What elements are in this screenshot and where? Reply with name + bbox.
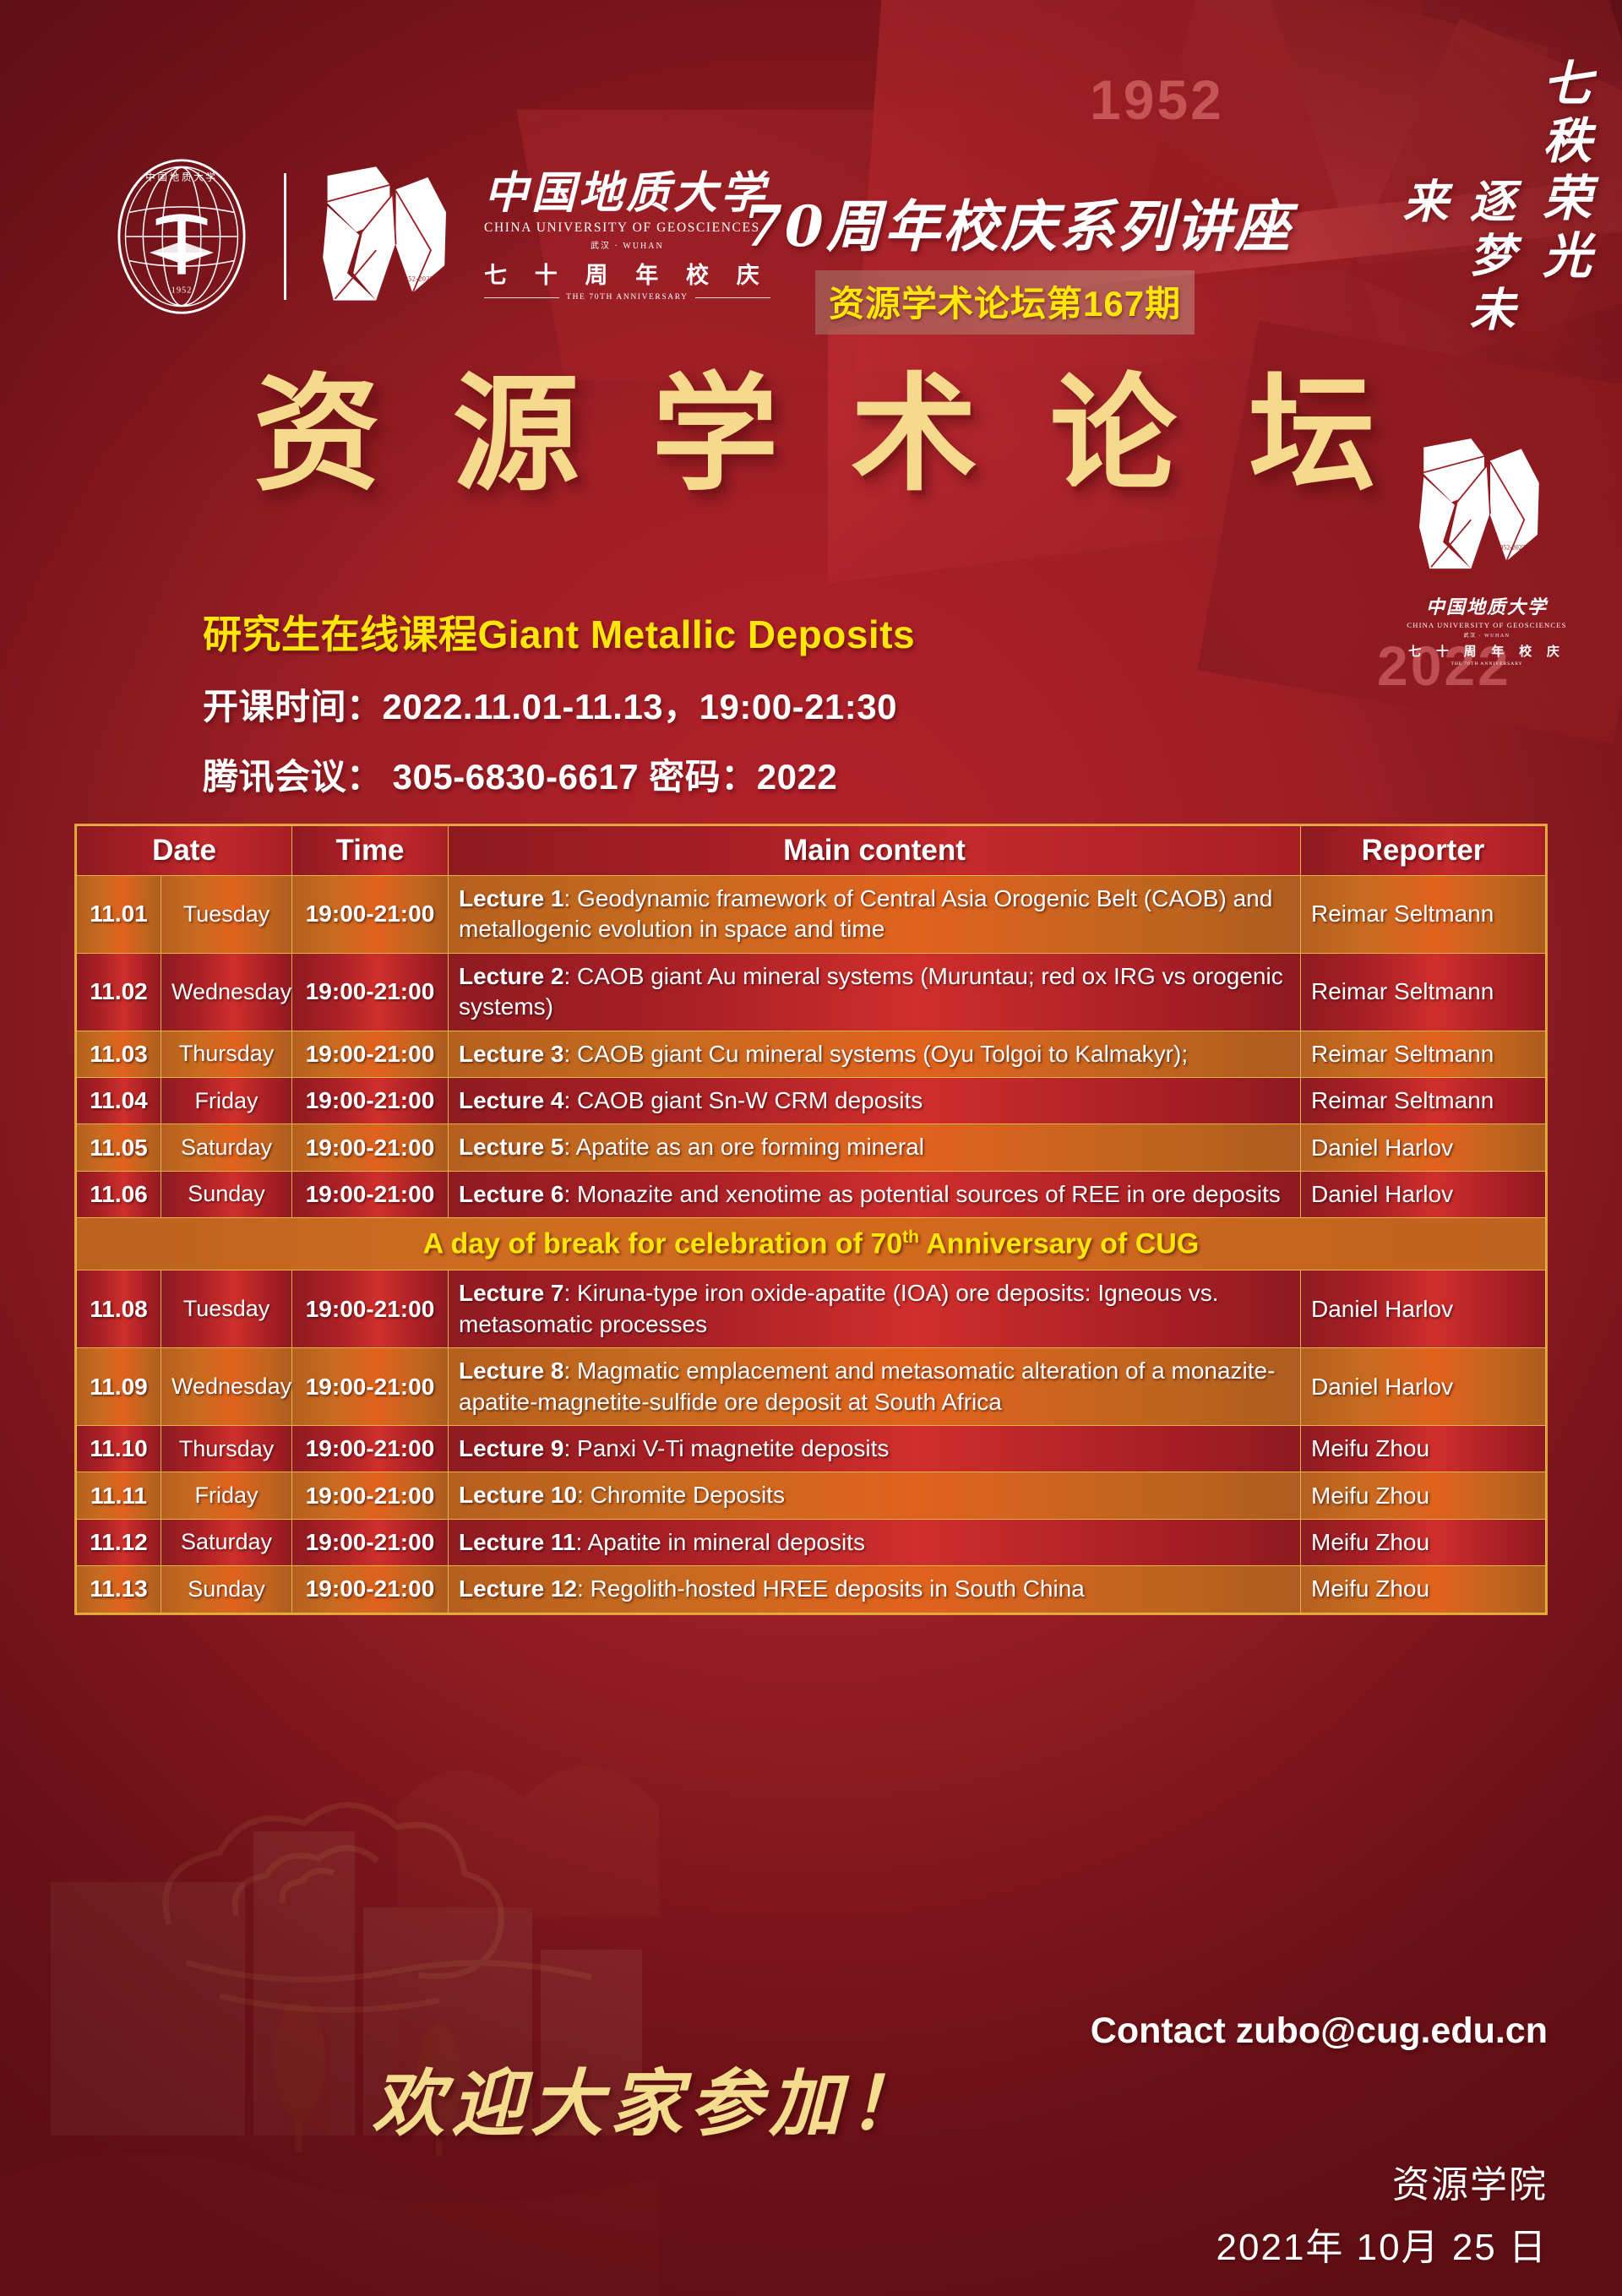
meeting-info: 腾讯会议： 305-6830-6617 密码：2022 — [203, 748, 915, 800]
anniversary-emblem-right: 1952-2022 中国地质大学 CHINA UNIVERSITY OF GEO… — [1390, 431, 1584, 666]
cell-day: Thursday — [161, 1426, 292, 1472]
anniversary-70-emblem-small-icon: 1952-2022 — [1413, 431, 1561, 583]
rule-right — [695, 297, 770, 298]
svg-text:中国地质大学: 中国地质大学 — [145, 171, 217, 183]
schedule-table-container: Date Time Main content Reporter 11.01Tue… — [74, 824, 1548, 1615]
emblem-name-cn: 中国地质大学 — [1390, 592, 1584, 619]
lecture-label: Lecture 9 — [459, 1435, 564, 1461]
cug-city: 武汉 · WUHAN — [484, 238, 770, 251]
emblem-anniversary-en: THE 70TH ANNIVERSARY — [1390, 661, 1584, 666]
cug-anniversary-en-row: THE 70TH ANNIVERSARY — [484, 293, 770, 302]
issue-badge: 资源学术论坛第167期 — [815, 270, 1195, 335]
cell-reporter: Daniel Harlov — [1301, 1171, 1546, 1217]
cell-day: Sunday — [161, 1566, 292, 1613]
ordinal-suffix: th — [902, 1227, 919, 1247]
cell-date: 11.05 — [77, 1124, 161, 1171]
cell-reporter: Reimar Seltmann — [1301, 953, 1546, 1031]
lecture-label: Lecture 5 — [459, 1134, 564, 1160]
lecture-label: Lecture 3 — [459, 1041, 564, 1067]
cell-main-content: Lecture 3: CAOB giant Cu mineral systems… — [449, 1031, 1301, 1077]
cell-time: 19:00-21:00 — [292, 1171, 449, 1217]
organizer-block: 资源学院 2021年 10月 25 日 — [1216, 2154, 1548, 2271]
cell-main-content: Lecture 6: Monazite and xenotime as pote… — [449, 1171, 1301, 1217]
cell-time: 19:00-21:00 — [292, 1031, 449, 1077]
table-row: 11.08Tuesday19:00-21:00Lecture 7: Kiruna… — [77, 1270, 1546, 1348]
cell-reporter: Meifu Zhou — [1301, 1472, 1546, 1519]
lecture-label: Lecture 10 — [459, 1482, 577, 1508]
table-row: 11.02Wednesday19:00-21:00Lecture 2: CAOB… — [77, 953, 1546, 1031]
cug-anniversary-en: THE 70TH ANNIVERSARY — [566, 293, 688, 302]
poster-header: 1952 2022 七秩荣光 逐梦未来 1952 中国地质大学 — [0, 0, 1622, 355]
organizer-date: 2021年 10月 25 日 — [1216, 2217, 1548, 2271]
cug-anniversary-cn: 七 十 周 年 校 庆 — [484, 257, 770, 290]
column-header-reporter: Reporter — [1301, 826, 1546, 876]
cell-reporter: Reimar Seltmann — [1301, 1031, 1546, 1077]
table-row: 11.05Saturday19:00-21:00Lecture 5: Apati… — [77, 1124, 1546, 1171]
table-row: 11.13Sunday19:00-21:00Lecture 12: Regoli… — [77, 1566, 1546, 1613]
table-row: 11.12Saturday19:00-21:00Lecture 11: Apat… — [77, 1519, 1546, 1565]
cell-date: 11.11 — [77, 1472, 161, 1519]
schedule-table-body: 11.01Tuesday19:00-21:00Lecture 1: Geodyn… — [77, 876, 1546, 1613]
lecture-label: Lecture 11 — [459, 1529, 576, 1555]
table-row: 11.04Friday19:00-21:00Lecture 4: CAOB gi… — [77, 1077, 1546, 1124]
cug-wordmark: 中国地质大学 CHINA UNIVERSITY OF GEOSCIENCES 武… — [484, 171, 770, 302]
cell-main-content: Lecture 11: Apatite in mineral deposits — [449, 1519, 1301, 1565]
cell-main-content: Lecture 8: Magmatic emplacement and meta… — [449, 1348, 1301, 1426]
cell-main-content: Lecture 10: Chromite Deposits — [449, 1472, 1301, 1519]
table-row: 11.03Thursday19:00-21:00Lecture 3: CAOB … — [77, 1031, 1546, 1077]
contact-info[interactable]: Contact zubo@cug.edu.cn — [1091, 2010, 1548, 2052]
emblem-name-en: CHINA UNIVERSITY OF GEOSCIENCES — [1390, 621, 1584, 629]
cell-day: Friday — [161, 1077, 292, 1124]
cell-day: Tuesday — [161, 1270, 292, 1348]
cell-date: 11.13 — [77, 1566, 161, 1613]
lecture-label: Lecture 7 — [459, 1280, 564, 1306]
cell-day: Saturday — [161, 1124, 292, 1171]
cell-reporter: Meifu Zhou — [1301, 1519, 1546, 1565]
cell-date: 11.01 — [77, 876, 161, 954]
cell-main-content: Lecture 4: CAOB giant Sn-W CRM deposits — [449, 1077, 1301, 1124]
cell-main-content: Lecture 7: Kiruna-type iron oxide-apatit… — [449, 1270, 1301, 1348]
cell-date: 11.09 — [77, 1348, 161, 1426]
cell-date: 11.06 — [77, 1171, 161, 1217]
series-title: 70周年校庆系列讲座 — [743, 182, 1293, 263]
cell-date: 11.03 — [77, 1031, 161, 1077]
cell-day: Wednesday — [161, 1348, 292, 1426]
cell-time: 19:00-21:00 — [292, 1270, 449, 1348]
svg-text:1952-2022: 1952-2022 — [1496, 543, 1525, 551]
organizer-name: 资源学院 — [1216, 2154, 1548, 2208]
cell-reporter: Daniel Harlov — [1301, 1348, 1546, 1426]
table-header-row: Date Time Main content Reporter — [77, 826, 1546, 876]
lecture-label: Lecture 12 — [459, 1575, 577, 1602]
cell-time: 19:00-21:00 — [292, 1077, 449, 1124]
cug-name-cn: 中国地质大学 — [484, 171, 770, 218]
lecture-label: Lecture 1 — [459, 885, 564, 911]
cell-day: Thursday — [161, 1031, 292, 1077]
calligraphy-zhumeng-weilai: 逐梦未来 — [1389, 177, 1522, 355]
lecture-label: Lecture 2 — [459, 963, 564, 989]
column-header-time: Time — [292, 826, 449, 876]
table-row: 11.09Wednesday19:00-21:00Lecture 8: Magm… — [77, 1348, 1546, 1426]
emblem-city: 武汉 · WUHAN — [1390, 631, 1584, 639]
cell-date: 11.08 — [77, 1270, 161, 1348]
logo-divider — [284, 173, 286, 300]
table-row: 11.01Tuesday19:00-21:00Lecture 1: Geodyn… — [77, 876, 1546, 954]
cell-day: Sunday — [161, 1171, 292, 1217]
cell-date: 11.10 — [77, 1426, 161, 1472]
calligraphy-qizhi-rongguang: 七秩荣光 — [1527, 57, 1598, 287]
cell-time: 19:00-21:00 — [292, 1519, 449, 1565]
cell-time: 19:00-21:00 — [292, 1124, 449, 1171]
svg-text:1952: 1952 — [171, 286, 193, 296]
schedule-table: Date Time Main content Reporter 11.01Tue… — [76, 825, 1546, 1613]
cell-reporter: Reimar Seltmann — [1301, 876, 1546, 954]
column-header-date: Date — [77, 826, 292, 876]
cell-time: 19:00-21:00 — [292, 953, 449, 1031]
cell-main-content: Lecture 1: Geodynamic framework of Centr… — [449, 876, 1301, 954]
university-seal-icon: 1952 中国地质大学 — [101, 156, 262, 317]
cell-day: Tuesday — [161, 876, 292, 954]
cell-time: 19:00-21:00 — [292, 1426, 449, 1472]
cell-date: 11.12 — [77, 1519, 161, 1565]
cell-reporter: Meifu Zhou — [1301, 1426, 1546, 1472]
break-day-label: A day of break for celebration of 70th A… — [77, 1218, 1546, 1270]
column-header-main-content: Main content — [449, 826, 1301, 876]
rule-left — [484, 297, 559, 298]
cell-time: 19:00-21:00 — [292, 1472, 449, 1519]
lecture-label: Lecture 4 — [459, 1087, 564, 1113]
cell-main-content: Lecture 12: Regolith-hosted HREE deposit… — [449, 1566, 1301, 1613]
year-1952-watermark: 1952 — [1090, 68, 1224, 132]
cell-time: 19:00-21:00 — [292, 1348, 449, 1426]
anniversary-70-emblem-icon: 1952-2022 — [317, 159, 469, 315]
cell-date: 11.04 — [77, 1077, 161, 1124]
cell-reporter: Daniel Harlov — [1301, 1270, 1546, 1348]
cug-name-en: CHINA UNIVERSITY OF GEOSCIENCES — [484, 220, 770, 236]
course-info-block: 研究生在线课程Giant Metallic Deposits 开课时间：2022… — [203, 604, 915, 800]
cell-day: Wednesday — [161, 953, 292, 1031]
table-row: 11.11Friday19:00-21:00Lecture 10: Chromi… — [77, 1472, 1546, 1519]
welcome-calligraphy: 欢迎大家参加！ — [372, 2044, 928, 2150]
cell-day: Friday — [161, 1472, 292, 1519]
cell-time: 19:00-21:00 — [292, 876, 449, 954]
cell-date: 11.02 — [77, 953, 161, 1031]
lecture-label: Lecture 8 — [459, 1357, 564, 1384]
issue-badge-label: 资源学术论坛第167期 — [829, 284, 1181, 324]
cell-main-content: Lecture 9: Panxi V-Ti magnetite deposits — [449, 1426, 1301, 1472]
cell-reporter: Meifu Zhou — [1301, 1566, 1546, 1613]
cell-main-content: Lecture 5: Apatite as an ore forming min… — [449, 1124, 1301, 1171]
university-logo-block: 1952 中国地质大学 1952-2022 中国地质大学 CHINA UNIVE… — [101, 156, 770, 317]
emblem-anniversary-cn: 七 十 周 年 校 庆 — [1390, 642, 1584, 660]
course-name: 研究生在线课程Giant Metallic Deposits — [203, 604, 915, 660]
cell-reporter: Daniel Harlov — [1301, 1124, 1546, 1171]
break-day-row: A day of break for celebration of 70th A… — [77, 1218, 1546, 1270]
page-title: 资 源 学 术 论 坛 — [253, 363, 1394, 505]
svg-text:1952-2022: 1952-2022 — [400, 275, 433, 282]
table-row: 11.06Sunday19:00-21:00Lecture 6: Monazit… — [77, 1171, 1546, 1217]
cell-time: 19:00-21:00 — [292, 1566, 449, 1613]
cell-main-content: Lecture 2: CAOB giant Au mineral systems… — [449, 953, 1301, 1031]
lecture-label: Lecture 6 — [459, 1181, 564, 1207]
cell-reporter: Reimar Seltmann — [1301, 1077, 1546, 1124]
course-schedule: 开课时间：2022.11.01-11.13，19:00-21:30 — [203, 678, 915, 730]
table-row: 11.10Thursday19:00-21:00Lecture 9: Panxi… — [77, 1426, 1546, 1472]
cell-day: Saturday — [161, 1519, 292, 1565]
